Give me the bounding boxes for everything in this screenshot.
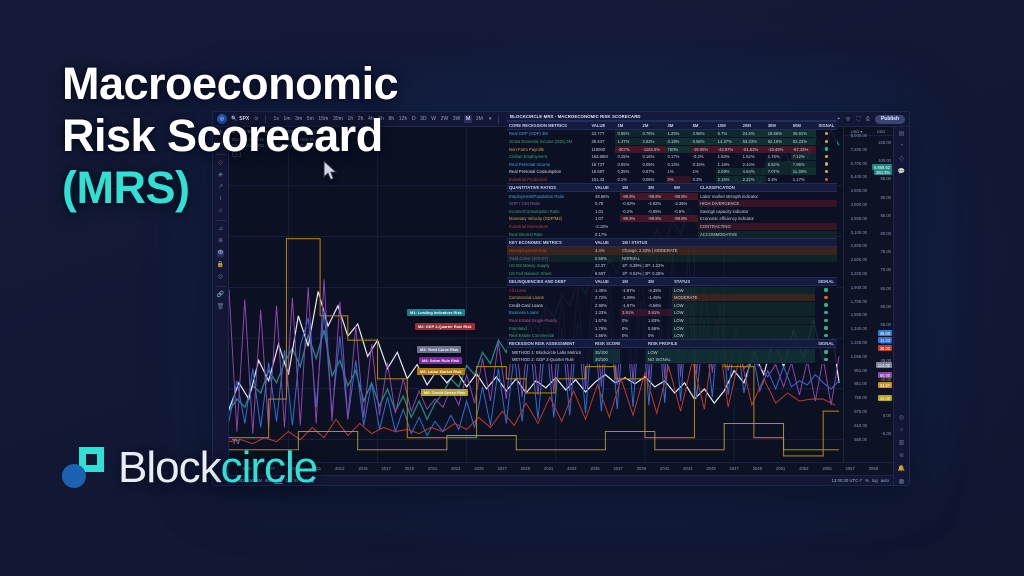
- signal-dot-icon: [825, 155, 828, 158]
- col-header-5M: 5M: [672, 184, 698, 191]
- price-tick-left-9: 2,500.00: [851, 257, 867, 262]
- col-header-classification: CLASSIFICATION: [698, 184, 837, 191]
- time-tick-2039: 2039: [637, 466, 646, 471]
- metric-name: Industrial Production: [507, 176, 589, 183]
- chart-legend-indicator-2[interactable]: Blockcircle MRS - Macroeconomic Risk Sco…: [232, 143, 328, 148]
- pattern-icon[interactable]: ◈: [218, 172, 223, 179]
- metric-name: Business Loans: [507, 309, 593, 316]
- notifications-icon[interactable]: 🔔: [898, 465, 905, 472]
- signal-dot-icon: [825, 147, 828, 150]
- price-tick-left-14: 1,340.00: [851, 326, 867, 331]
- col-header-signal: SIGNAL: [815, 340, 837, 347]
- price-tick-left-21: 610.00: [854, 423, 867, 428]
- table-row: GDP / GDI Ratio0.78-0.52%-2.82%-3.36%HIG…: [507, 200, 837, 208]
- logo-inner-square: [86, 454, 97, 465]
- col-header-1M: 1M: [615, 122, 640, 129]
- calendar-icon[interactable]: ◎: [899, 414, 904, 421]
- metric-value: 119000: [589, 146, 615, 153]
- metric-pct-2: 4.19%: [666, 138, 691, 145]
- logo-circle: [62, 464, 86, 488]
- metric-name: Employment/Population Ratio: [507, 193, 593, 200]
- price-tick-right-4: 85.00: [881, 213, 891, 218]
- metric-status: LOW: [672, 325, 815, 332]
- col-header-value: VALUE: [593, 239, 620, 246]
- data-window-icon[interactable]: ◇: [899, 155, 904, 162]
- metric-pct-3: -19.05%: [691, 146, 716, 153]
- metric-pct-1: 0.56%: [646, 325, 672, 332]
- col-header-value: VALUE: [589, 122, 615, 129]
- status-badge: [815, 356, 837, 363]
- metric-pct-0: -1.09%: [620, 294, 646, 301]
- price-tick-left-19: 750.00: [854, 395, 867, 400]
- col-header-10M: 10M: [716, 122, 741, 129]
- gap: [620, 359, 646, 361]
- zoom-icon[interactable]: ⊕: [218, 238, 223, 245]
- metric-value: 1.78%: [593, 325, 620, 332]
- metric-name: Income/Consumption Ratio: [507, 208, 593, 215]
- metric-value: -2.15%: [593, 223, 620, 230]
- metric-classification: Savings capacity indicator: [698, 208, 837, 215]
- metric-value: 1.33%: [593, 309, 620, 316]
- timeframe-6h[interactable]: 6h: [377, 116, 385, 122]
- metric-pct-4: 2.15%: [716, 176, 741, 183]
- toolbar-divider-1: [265, 115, 266, 124]
- watchlist-icon[interactable]: ▤: [899, 130, 905, 137]
- hide-icon[interactable]: ◎: [218, 274, 223, 281]
- section-header-delinquencies-and-debt: DELINQUENCIES AND DEBTVALUE1M3MSTATUSSIG…: [507, 277, 837, 286]
- price-tick-right-5: 80.00: [881, 231, 891, 236]
- metric-value: 0.58%: [593, 255, 620, 262]
- gap: [620, 351, 646, 353]
- metric-pct-2: [672, 226, 698, 228]
- col-header-20M: 20M: [741, 122, 766, 129]
- metric-status: Change: 2.33% | MODERATE: [620, 247, 837, 254]
- chart-annotation-4[interactable]: M4: Sahm Rule Risk: [419, 357, 462, 364]
- metric-name: Real Estate Single-Family: [507, 317, 593, 324]
- metric-value: 35/100: [593, 349, 620, 356]
- timeframe-D[interactable]: D: [411, 116, 417, 122]
- metric-pct-5: 4.64%: [741, 168, 766, 175]
- price-tick-right-2: 95.00: [881, 176, 891, 181]
- col-header-1M: 1M: [620, 184, 646, 191]
- status-badge: [815, 349, 837, 356]
- chat-icon[interactable]: ▥: [899, 439, 905, 446]
- timeframe-M[interactable]: M: [464, 115, 472, 123]
- col-header-signal: SIGNAL: [816, 122, 837, 129]
- camera-icon[interactable]: ⎙: [865, 116, 871, 122]
- metric-pct-2: -99.9%: [672, 215, 698, 222]
- col-header-1m: 1M: [620, 278, 646, 285]
- metric-classification: CONTRACTING: [698, 223, 837, 230]
- metric-pct-2: 750%: [666, 146, 691, 153]
- metric-value: 163.65M: [589, 153, 615, 160]
- metric-pct-1: 1.83%: [646, 317, 672, 324]
- metric-pct-0: 0%: [620, 317, 646, 324]
- time-tick-2029: 2029: [521, 466, 530, 471]
- price-scale-left[interactable]: USD ▾ 8,000.007,200.005,700.005,400.004,…: [843, 127, 869, 462]
- col-header-risk-score: RISK SCORE: [593, 340, 620, 347]
- collapse-icon[interactable]: ^: [232, 151, 241, 157]
- price-tag-2: 35.00: [878, 330, 892, 336]
- price-tick-right-8: 65.00: [881, 286, 891, 291]
- timeframe-1m[interactable]: 1m: [282, 116, 291, 122]
- metric-pct-4: -43.87%: [716, 146, 741, 153]
- timeframe-1h[interactable]: 1h: [346, 116, 354, 122]
- price-tick-right-16: -5.00: [881, 431, 891, 436]
- table-row: Real Estate Single-Family1.67%0%1.83%LOW: [507, 317, 837, 325]
- metric-classification: Economic efficiency indicator: [698, 215, 837, 222]
- col-header-2M: 2M: [640, 122, 665, 129]
- metric-name: GDP / GDI Ratio: [507, 200, 593, 207]
- metric-status: 1P: 0.52% | 3P: 0.26%: [620, 270, 837, 277]
- time-tick-2047: 2047: [730, 466, 739, 471]
- metric-pct-0: -1.97%: [620, 287, 646, 294]
- status-badge: [816, 176, 837, 183]
- metric-pct-6: 5.82%: [766, 161, 791, 168]
- metric-pct-5: 2.22%: [741, 176, 766, 183]
- cross-cursor-icon[interactable]: ✛: [218, 130, 223, 137]
- hotlist-icon[interactable]: 💬: [898, 168, 905, 175]
- compare-icon[interactable]: ⊙: [253, 116, 259, 122]
- price-tick-left-1: 7,200.00: [851, 147, 867, 152]
- price-tag-7: 34.57: [878, 382, 892, 388]
- logo-mark-icon: [62, 447, 104, 489]
- price-tick-left-16: 1,055.00: [851, 354, 867, 359]
- text-icon[interactable]: T: [219, 196, 223, 203]
- timeframe-2W[interactable]: 2W: [440, 116, 450, 122]
- symbol-search[interactable]: 🔍 SPX: [231, 116, 249, 122]
- col-header-name: RECESSION RISK ASSESSMENT: [507, 340, 593, 347]
- timeframe-3m[interactable]: 3m: [294, 116, 303, 122]
- time-tick-2019: 2019: [405, 466, 414, 471]
- metric-pct-1: 0.16%: [640, 153, 665, 160]
- time-tick-2021: 2021: [428, 466, 437, 471]
- metric-value: 30/100: [593, 356, 620, 363]
- metric-value: 0.78: [593, 200, 620, 207]
- table-row: Business Loans1.33%3.91%3.91%LOW: [507, 309, 837, 317]
- chart-legend-symbol[interactable]: S&P 500 Index · 1M · SPCFD · Heikin Ashi: [232, 129, 325, 134]
- metric-value: 2.98%: [593, 302, 620, 309]
- col-header-name: KEY ECONOMIC METRICS: [507, 239, 593, 246]
- col-header-3M: 3M: [666, 122, 691, 129]
- metric-pct-2: 0.17%: [666, 153, 691, 160]
- col-header-3m: 3M: [646, 278, 672, 285]
- price-tag-8: 42.00: [878, 395, 892, 401]
- status-badge: [815, 287, 837, 294]
- metric-pct-1: -3.25%: [646, 287, 672, 294]
- fullscreen-icon[interactable]: ⛶: [855, 116, 861, 122]
- metric-value: 30.34T: [589, 138, 615, 145]
- timeframe-12h[interactable]: 12h: [398, 116, 409, 122]
- metric-pct-7: 35.91%: [791, 130, 816, 137]
- time-tick-2057: 2057: [846, 466, 855, 471]
- timeframe-3W[interactable]: 3W: [452, 116, 462, 122]
- table-row: US Fed Balance Sheet6.59T1P: 0.52% | 3P:…: [507, 270, 837, 278]
- metric-value: 16.59T: [589, 168, 615, 175]
- metric-value: 1.49%: [593, 287, 620, 294]
- timeframe-1s[interactable]: 1s: [272, 116, 279, 122]
- metric-pct-0: 1.47%: [615, 138, 640, 145]
- status-badge: [816, 153, 837, 160]
- status-badge: [815, 317, 837, 324]
- timeframe-2h[interactable]: 2h: [357, 116, 365, 122]
- signal-dot-icon: [825, 170, 828, 173]
- auto-fit-icon[interactable]: auto: [881, 478, 889, 483]
- status-badge: [815, 294, 837, 301]
- publish-button[interactable]: Publish: [875, 115, 905, 124]
- lock-icon[interactable]: 🔒: [217, 262, 224, 269]
- col-header-name: DELINQUENCIES AND DEBT: [507, 278, 593, 285]
- signal-dot-icon: [825, 178, 828, 181]
- metric-pct-1: -99.9%: [646, 193, 672, 200]
- currency-label-2: USD: [877, 129, 885, 134]
- status-badge: [815, 325, 837, 332]
- time-tick-2013: 2013: [335, 466, 344, 471]
- col-header-name: QUANTITATIVE RATIOS: [507, 184, 593, 191]
- drawing-tools-sidebar: ✛╱◇◈↗T☺⊿⊕🜨🔒◎🔗🗑: [213, 127, 229, 485]
- tradingview-logo-icon[interactable]: ◎: [217, 114, 227, 124]
- log-scale-icon[interactable]: log: [872, 478, 878, 483]
- time-tick-2041: 2041: [660, 466, 669, 471]
- signal-dot-icon: [824, 350, 827, 353]
- timeframe-4h[interactable]: 4h: [367, 116, 375, 122]
- metric-name: Commercial Loans: [507, 294, 593, 301]
- metric-pct-3: 1%: [691, 168, 716, 175]
- table-row: Industrial Momentum-2.15%CONTRACTING: [507, 223, 837, 231]
- metric-pct-1: [646, 233, 672, 235]
- metric-pct-1: -1.45%: [646, 294, 672, 301]
- metric-pct-3: 0.3%: [691, 176, 716, 183]
- metric-value: 0.17%: [593, 231, 620, 238]
- price-tick-left-22: 550.00: [854, 437, 867, 442]
- price-scale-right[interactable]: USD 105.00100.0095.0090.0085.0080.0075.0…: [869, 127, 893, 462]
- metric-status: 1P: 0.39% | 3P: 1.22%: [620, 262, 837, 269]
- scorecard-title: BLOCKCIRCLE MRS - MACROECONOMIC RISK SCO…: [507, 112, 837, 121]
- tool-divider-7: [216, 220, 226, 221]
- price-scale-currency-selector-2[interactable]: USD: [869, 127, 893, 136]
- table-row: Real Personal Consumption16.59T0.35%0.67…: [507, 168, 837, 176]
- time-axis[interactable]: 2005200720092011201320152017201920212023…: [229, 462, 893, 475]
- price-tag-3: 11.33: [878, 337, 892, 343]
- metric-pct-3: -0.2%: [691, 153, 716, 160]
- timeframe-5m[interactable]: 5m: [306, 116, 315, 122]
- signal-dot-icon: [825, 132, 828, 135]
- slide-canvas: Macroeconomic Risk Scorecard (MRS) ◎ 🔍 S…: [0, 0, 1024, 576]
- col-header-gap: [620, 343, 646, 345]
- tool-divider-2: [216, 154, 226, 155]
- time-tick-2053: 2053: [799, 466, 808, 471]
- signal-dot-icon: [824, 358, 827, 361]
- emoji-icon[interactable]: ☺: [217, 208, 223, 215]
- price-tick-left-10: 2,200.00: [851, 271, 867, 276]
- percent-icon[interactable]: %: [865, 478, 869, 483]
- indicator-hide-icon[interactable]: ×: [325, 143, 328, 148]
- metric-pct-1: 0.67%: [640, 168, 665, 175]
- metric-pct-7: 11.38%: [791, 168, 816, 175]
- chart-annotation-1[interactable]: M1: Leading Indicators Risk: [407, 309, 465, 316]
- chart-legend-indicator-1[interactable]: Blockcircle MRS - Macroeconomic Risk Sco…: [232, 136, 339, 142]
- metric-name: Unemployment Rate: [507, 247, 593, 254]
- metric-name: US Fed Balance Sheet: [507, 270, 593, 277]
- col-header-30M: 30M: [766, 122, 791, 129]
- timeframe-3D[interactable]: 3D: [419, 116, 428, 122]
- table-row: METHOD 1: Blockcircle Labs Metrics35/100…: [507, 348, 837, 356]
- metric-name: Farmland: [507, 325, 593, 332]
- chart-annotation-2[interactable]: M2: GDP 2-Quarter Rule Risk: [415, 323, 475, 330]
- metric-name: Yield Curve (10Y-2Y): [507, 255, 593, 262]
- prediction-icon[interactable]: ↗: [218, 184, 223, 191]
- metric-name: Real Personal Income: [507, 161, 589, 168]
- metric-name: Monetary Velocity (GDP/M2): [507, 215, 593, 222]
- metric-pct-1: 0.09%: [640, 161, 665, 168]
- price-tick-right-6: 75.00: [881, 249, 891, 254]
- price-tag-5: 114.00: [876, 362, 892, 368]
- metric-pct-2: 1%: [666, 168, 691, 175]
- metric-status: MODERATE: [672, 294, 815, 301]
- replay-icon[interactable]: ◎: [845, 116, 851, 122]
- alerts-icon[interactable]: ◔: [900, 143, 904, 149]
- mrs-scorecard-panel: BLOCKCIRCLE MRS - MACROECONOMIC RISK SCO…: [507, 112, 837, 364]
- indicator-menu-icon-1[interactable]: ⋯: [335, 136, 339, 142]
- metric-value: 1.56%: [593, 332, 620, 339]
- section-header-core-recession-metrics: CORE RECESSION METRICSVALUE1M2M3M5M10M20…: [507, 121, 837, 130]
- metric-value: 6.59T: [593, 270, 620, 277]
- price-tag-6: 60.00: [878, 372, 892, 378]
- status-badge: [816, 138, 837, 145]
- section-header-quantitative-ratios: QUANTITATIVE RATIOSVALUE1M3M5MCLASSIFICA…: [507, 183, 837, 192]
- timeframe-15m[interactable]: 15m: [317, 116, 329, 122]
- price-tick-right-1: 100.00: [878, 158, 891, 163]
- time-tick-2015: 2015: [358, 466, 367, 471]
- measure-icon[interactable]: ⊿: [218, 226, 223, 233]
- table-row: Employment/Population Ratio48.85%-99.9%-…: [507, 192, 837, 200]
- price-tick-left-11: 1,900.00: [851, 285, 867, 290]
- timeframe-3M[interactable]: 3M: [475, 116, 484, 122]
- price-tick-left-4: 4,500.00: [851, 188, 867, 193]
- metric-classification: HIGH DIVERGENCE: [698, 200, 837, 207]
- price-tick-left-18: 851.00: [854, 381, 867, 386]
- apps-icon[interactable]: ▦: [899, 478, 905, 485]
- table-row: Monetary Velocity (GDP/M2)1.07-99.9%-99.…: [507, 215, 837, 223]
- price-tick-left-3: 5,400.00: [851, 174, 867, 179]
- table-row: Income/Consumption Ratio1.01-0.2%-0.85%-…: [507, 208, 837, 216]
- trash-icon[interactable]: 🗑: [217, 304, 225, 311]
- signal-dot-icon: [824, 288, 827, 291]
- legend-symbol-text: S&P 500 Index · 1M · SPCFD · Heikin Ashi: [237, 129, 325, 134]
- metric-name: Industrial Momentum: [507, 223, 593, 230]
- metric-value: 22.3T: [593, 262, 620, 269]
- trend-line-icon[interactable]: ╱: [219, 142, 223, 149]
- stream-icon[interactable]: ≋: [899, 452, 904, 459]
- chart-annotation-6[interactable]: M6: Credit Stress Risk: [421, 389, 468, 396]
- metric-pct-7: 1.17%: [791, 176, 816, 183]
- metric-value: 2.72%: [593, 294, 620, 301]
- metric-pct-3: 2.98%: [691, 130, 716, 137]
- metric-value: 16.73T: [589, 161, 615, 168]
- status-badge: [815, 309, 837, 316]
- col-header-5M: 5M: [691, 122, 716, 129]
- logo-text-block: Block: [118, 443, 221, 492]
- signal-dot-icon: [824, 319, 827, 322]
- price-tick-right-9: 60.00: [881, 304, 891, 309]
- metric-name: Non-Farm Payrolls: [507, 146, 589, 153]
- metric-name: Real Personal Consumption: [507, 168, 589, 175]
- col-header-value: VALUE: [593, 278, 620, 285]
- price-tag-4: 38.00: [878, 345, 892, 351]
- metric-pct-1: 0.78%: [640, 130, 665, 137]
- timeframe-list: 1s1m3m5m15m30m1h2h4h6h8h12hD3DW2W3WM3M: [272, 115, 483, 123]
- magnet-icon[interactable]: 🜨: [217, 250, 224, 257]
- status-badge: [815, 332, 837, 339]
- price-tick-right-7: 70.00: [881, 267, 891, 272]
- col-header-3M: 3M: [646, 184, 672, 191]
- logo-wordmark: Blockcircle: [118, 446, 317, 490]
- metric-pct-7: 7.12%: [791, 153, 816, 160]
- timeframe-8h[interactable]: 8h: [388, 116, 396, 122]
- symbol-status-dot: [232, 130, 235, 133]
- metric-pct-1: 3.91%: [646, 309, 672, 316]
- signal-dot-icon: [825, 162, 828, 165]
- tradingview-window: ◎ 🔍 SPX ⊙ 1s1m3m5m15m30m1h2h4h6h8h12hD3D…: [212, 111, 910, 486]
- price-tag-change-1: 284.3%: [874, 169, 892, 175]
- metric-value: 1.67%: [593, 317, 620, 324]
- price-tick-right-0: 105.00: [878, 140, 891, 145]
- metric-value: 4.4%: [593, 247, 620, 254]
- metric-pct-1: 0%: [646, 332, 672, 339]
- section-header-recession-risk-assessment: RECESSION RISK ASSESSMENTRISK SCORERISK …: [507, 339, 837, 348]
- table-row: US M2 Money Supply22.3T1P: 0.39% | 3P: 1…: [507, 262, 837, 270]
- timeframe-W[interactable]: W: [430, 116, 437, 122]
- metric-pct-0: 0.35%: [615, 168, 640, 175]
- scorecard-body: CORE RECESSION METRICSVALUE1M2M3M5M10M20…: [507, 121, 837, 363]
- metric-pct-5: -51.52%: [741, 146, 766, 153]
- chart-annotation-3[interactable]: M3: Yield Curve Risk: [417, 346, 461, 353]
- metric-pct-6: 19.56%: [766, 130, 791, 137]
- section-header-key-economic-metrics: KEY ECONOMIC METRICSVALUE1M / STATUS: [507, 238, 837, 247]
- link-icon[interactable]: 🔗: [217, 292, 224, 299]
- time-tick-2017: 2017: [382, 466, 391, 471]
- price-tick-left-8: 2,800.00: [851, 243, 867, 248]
- metric-name: US M2 Money Supply: [507, 262, 593, 269]
- metric-pct-2: 1.25%: [666, 130, 691, 137]
- indicator-name-2: Blockcircle MRS - Macroeconomic Risk Sco…: [232, 143, 321, 148]
- timeframe-30m[interactable]: 30m: [332, 116, 344, 122]
- metric-pct-0: 0.15%: [615, 153, 640, 160]
- signal-dot-icon: [824, 334, 827, 337]
- col-header-risk-profile: RISK PROFILE: [646, 340, 815, 347]
- metric-pct-1: -0.85%: [646, 208, 672, 215]
- time-tick-2043: 2043: [683, 466, 692, 471]
- status-badge: [815, 302, 837, 309]
- signal-dot-icon: [824, 296, 827, 299]
- chevron-down-icon[interactable]: ▾: [488, 116, 493, 122]
- metric-value: 1.01: [593, 208, 620, 215]
- table-row: Civilian Employment163.65M0.15%0.16%0.17…: [507, 153, 837, 161]
- fib-icon[interactable]: ◇: [218, 160, 223, 167]
- ideas-icon[interactable]: ⌂: [900, 427, 904, 433]
- table-row: METHOD 2: GDP 2-Quarter Rule30/100NO SIG…: [507, 356, 837, 364]
- price-tick-left-17: 951.00: [854, 368, 867, 373]
- metric-pct-5: 24.6%: [741, 130, 766, 137]
- metric-pct-0: -307%: [615, 146, 640, 153]
- price-tick-left-12: 1,700.00: [851, 299, 867, 304]
- table-row: Unemployment Rate4.4%Change: 2.33% | MOD…: [507, 247, 837, 255]
- chart-annotation-5[interactable]: M5: Labor Market Risk: [417, 368, 465, 375]
- metric-pct-0: -99.9%: [620, 193, 646, 200]
- time-tick-2051: 2051: [776, 466, 785, 471]
- status-badge: [816, 146, 837, 153]
- metric-pct-2: -3.36%: [672, 200, 698, 207]
